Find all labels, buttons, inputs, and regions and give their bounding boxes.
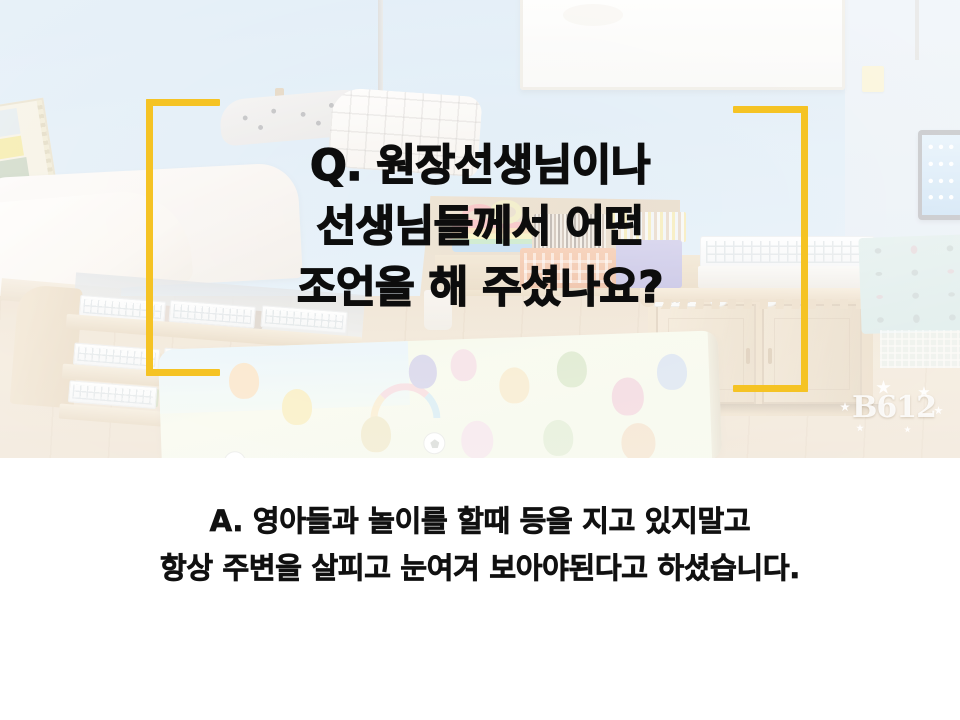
- mesh-mat: [880, 330, 960, 368]
- play-mat-character: [611, 377, 644, 416]
- question-line-3: 조언을 해 주셨나요?: [0, 258, 960, 319]
- door-handle: [746, 348, 750, 364]
- question-text: Q. 원장선생님이나 선생님들께서 어떤 조언을 해 주셨나요?: [0, 136, 960, 319]
- sticky-note: [862, 66, 884, 92]
- bracket-top-arm: [733, 106, 808, 113]
- bracket-bottom-arm: [733, 385, 808, 392]
- play-mat-character: [543, 419, 574, 456]
- play-mat-character: [450, 349, 477, 382]
- answer-line-2: 항상 주변을 살피고 눈여겨 보아야된다고 하셨습니다.: [0, 545, 960, 592]
- answer-panel: A. 영아들과 놀이를 할때 등을 지고 있지말고 항상 주변을 살피고 눈여겨…: [0, 458, 960, 720]
- slide-canvas: 이불정리함: [0, 0, 960, 720]
- play-mat-balloon: [228, 362, 259, 399]
- wall-seam: [378, 0, 383, 96]
- whiteboard: [520, 0, 845, 90]
- answer-text: A. 영아들과 놀이를 할때 등을 지고 있지말고 항상 주변을 살피고 눈여겨…: [0, 498, 960, 593]
- question-line-1: Q. 원장선생님이나: [0, 136, 960, 197]
- play-mat: [158, 330, 722, 458]
- bracket-bottom-arm: [146, 369, 220, 376]
- play-mat-soccer-ball: [423, 432, 446, 455]
- door-panel: [774, 318, 850, 390]
- door-handle: [768, 348, 772, 364]
- bracket-top-arm: [146, 99, 220, 106]
- answer-line-1: A. 영아들과 놀이를 할때 등을 지고 있지말고: [0, 498, 960, 545]
- play-mat-character: [461, 420, 494, 458]
- whiteboard-smudge: [563, 4, 623, 26]
- play-mat-character: [556, 351, 587, 388]
- collage-photo: [0, 108, 21, 139]
- question-line-2: 선생님들께서 어떤: [0, 197, 960, 258]
- wall-seam-secondary: [915, 0, 919, 60]
- play-mat-character: [408, 354, 437, 389]
- play-mat-character: [656, 353, 687, 390]
- play-mat-balloon: [281, 388, 312, 425]
- play-mat-character: [360, 416, 391, 453]
- play-mat-character: [499, 367, 530, 404]
- play-mat-character: [621, 423, 656, 458]
- play-mat-soccer-ball: [223, 451, 246, 458]
